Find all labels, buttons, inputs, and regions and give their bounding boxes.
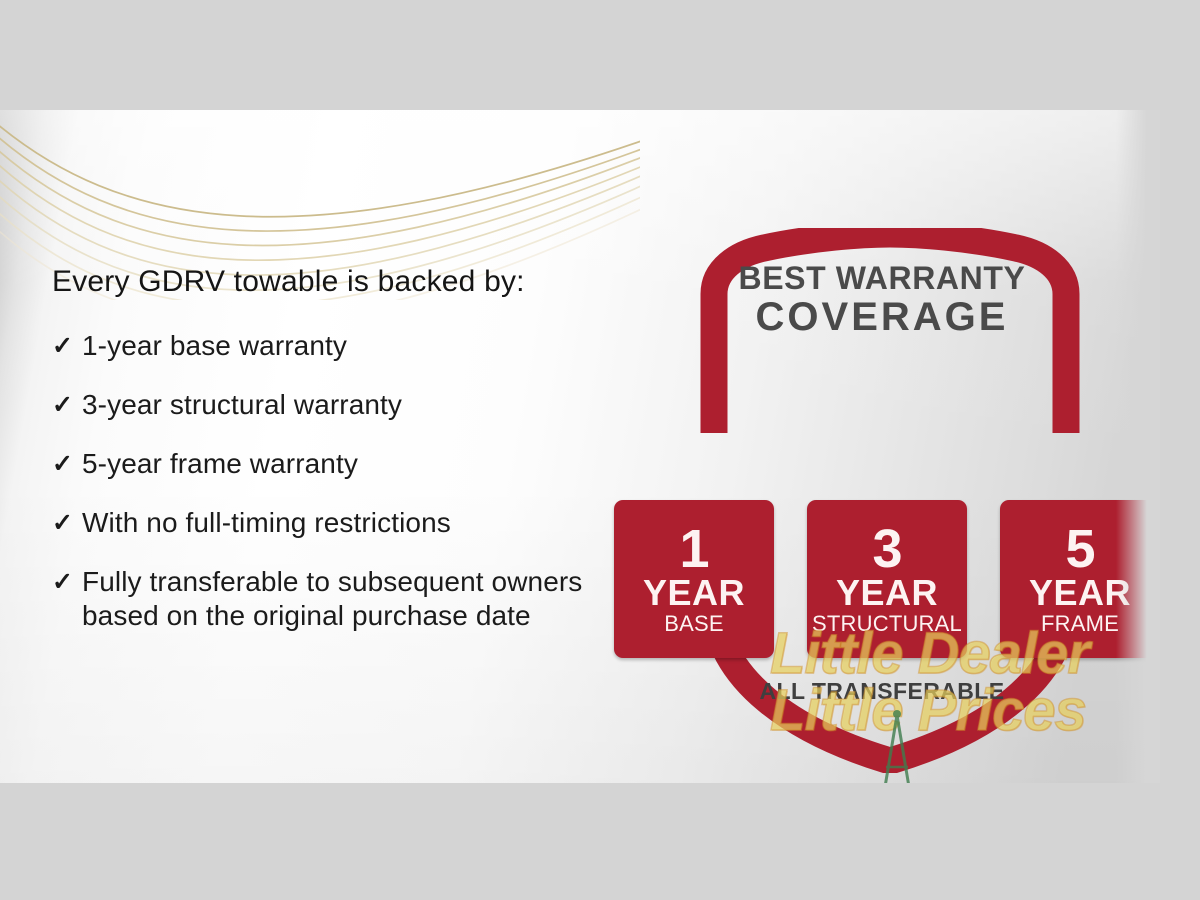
check-mark-icon: ✓ [52,447,82,481]
warranty-shield-badge: BEST WARRANTY COVERAGE 1 YEAR BASE 3 YEA… [596,228,1160,773]
list-item-label: 1-year base warranty [82,329,347,363]
warranty-box-number: 5 [1065,524,1094,574]
list-item: ✓ 5-year frame warranty [52,447,652,481]
list-item-label: Fully transferable to subsequent owners … [82,565,652,633]
list-item: ✓ 3-year structural warranty [52,388,652,422]
warranty-term-boxes: 1 YEAR BASE 3 YEAR STRUCTURAL 5 YEAR FRA… [614,500,1160,658]
check-mark-icon: ✓ [52,388,82,422]
screenshot-stage: Every GDRV towable is backed by: ✓ 1-yea… [0,0,1200,900]
badge-title-line2: COVERAGE [596,295,1160,340]
warranty-box-kind: FRAME [1041,611,1119,637]
warranty-slide: Every GDRV towable is backed by: ✓ 1-yea… [0,110,1160,783]
warranty-box-year: YEAR [836,574,938,611]
list-item: ✓ With no full-timing restrictions [52,506,652,540]
list-item-label: 5-year frame warranty [82,447,358,481]
warranty-box-kind: BASE [664,611,724,637]
badge-footer-label: ALL TRANSFERABLE [596,678,1160,705]
badge-title-line1: BEST WARRANTY [596,260,1160,297]
list-item: ✓ 1-year base warranty [52,329,652,363]
warranty-box-base: 1 YEAR BASE [614,500,774,658]
warranty-box-number: 1 [679,524,708,574]
list-item-label: With no full-timing restrictions [82,506,451,540]
list-item: ✓ Fully transferable to subsequent owner… [52,565,652,633]
warranty-box-year: YEAR [643,574,745,611]
page-title: Every GDRV towable is backed by: [52,265,652,299]
warranty-box-structural: 3 YEAR STRUCTURAL [807,500,967,658]
warranty-box-frame: 5 YEAR FRAME [1000,500,1160,658]
warranty-copy-block: Every GDRV towable is backed by: ✓ 1-yea… [52,265,652,658]
check-mark-icon: ✓ [52,565,82,599]
badge-title: BEST WARRANTY COVERAGE [596,260,1160,340]
warranty-box-year: YEAR [1029,574,1131,611]
warranty-box-number: 3 [872,524,901,574]
list-item-label: 3-year structural warranty [82,388,402,422]
warranty-box-kind: STRUCTURAL [812,611,962,637]
check-mark-icon: ✓ [52,329,82,363]
check-mark-icon: ✓ [52,506,82,540]
